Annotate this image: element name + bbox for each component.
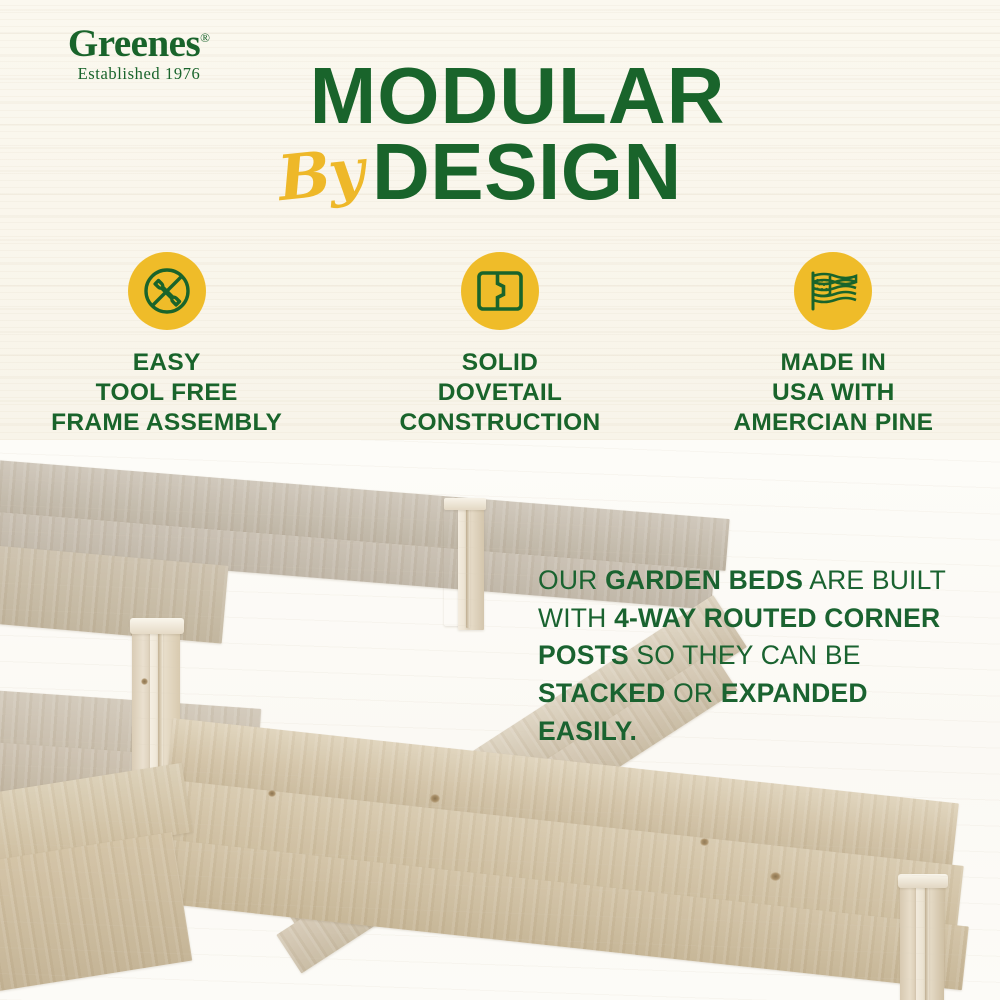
feature-badge xyxy=(461,252,539,330)
wood-knot xyxy=(141,678,148,685)
headline-line-2: DESIGN xyxy=(372,132,682,212)
headline: MODULAR By DESIGN xyxy=(0,58,1000,220)
feature-label: SOLID DOVETAIL CONSTRUCTION xyxy=(350,348,650,438)
usa-flag-icon xyxy=(808,269,858,313)
feature-item-tool-free: EASY TOOL FREE FRAME ASSEMBLY xyxy=(17,252,317,438)
headline-line-2-row: By DESIGN xyxy=(0,134,1000,220)
wood-corner-post-upper-groove xyxy=(466,504,470,628)
wood-knot xyxy=(268,790,276,797)
body-copy-bold-3: STACKED xyxy=(538,678,666,708)
wood-corner-post-center-cap xyxy=(130,618,184,634)
feature-item-made-in-usa: MADE IN USA WITH AMERCIAN PINE xyxy=(683,252,983,438)
wood-left-return-board-2 xyxy=(0,832,192,997)
body-copy: OUR GARDEN BEDS ARE BUILT WITH 4-WAY ROU… xyxy=(538,562,958,750)
registered-mark: ® xyxy=(200,30,210,45)
headline-script-word: By xyxy=(274,134,366,215)
wood-corner-post-right-groove xyxy=(925,882,929,1000)
no-tools-wrench-icon xyxy=(141,265,193,317)
dovetail-joint-icon xyxy=(476,269,524,313)
wood-knot xyxy=(770,872,781,881)
body-copy-bold-1: GARDEN BEDS xyxy=(605,565,803,595)
feature-list: EASY TOOL FREE FRAME ASSEMBLY SOLID DOVE… xyxy=(0,252,1000,438)
marketing-graphic: Greenes® Established 1976 MODULAR By DES… xyxy=(0,0,1000,1000)
wood-knot xyxy=(700,838,709,846)
body-copy-part-3: SO THEY CAN BE xyxy=(629,640,861,670)
feature-label: EASY TOOL FREE FRAME ASSEMBLY xyxy=(17,348,317,438)
wood-corner-post-upper-face xyxy=(458,502,484,630)
feature-item-dovetail: SOLID DOVETAIL CONSTRUCTION xyxy=(350,252,650,438)
body-copy-part-4: OR xyxy=(666,678,721,708)
feature-badge xyxy=(128,252,206,330)
wood-corner-post-upper-cap xyxy=(444,498,486,510)
feature-badge xyxy=(794,252,872,330)
wood-corner-post-right-cap xyxy=(898,874,948,888)
body-copy-part-1: OUR xyxy=(538,565,605,595)
feature-label: MADE IN USA WITH AMERCIAN PINE xyxy=(683,348,983,438)
wood-knot xyxy=(430,794,440,803)
wood-corner-post-right-face xyxy=(916,880,944,1000)
headline-line-1: MODULAR xyxy=(0,58,1000,134)
